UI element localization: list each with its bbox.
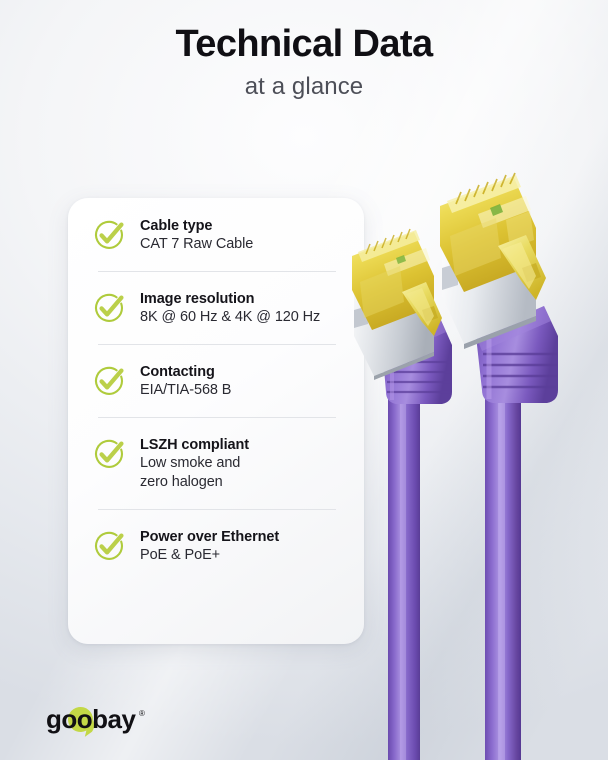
feature-text: Power over Ethernet PoE & PoE+: [140, 527, 279, 565]
feature-subtitle: 8K @ 60 Hz & 4K @ 120 Hz: [140, 308, 320, 327]
feature-subtitle-line2: zero halogen: [140, 473, 249, 492]
feature-row: Cable type CAT 7 Raw Cable: [86, 198, 346, 271]
check-circle-icon: [92, 437, 126, 471]
page-subtitle: at a glance: [0, 72, 608, 102]
rj45-patch-cable-image: [330, 140, 608, 760]
check-circle-icon: [92, 364, 126, 398]
feature-subtitle: EIA/TIA-568 B: [140, 381, 231, 400]
feature-title: Cable type: [140, 217, 253, 235]
feature-row: Contacting EIA/TIA-568 B: [86, 344, 346, 417]
feature-text: LSZH compliant Low smoke and zero haloge…: [140, 435, 249, 492]
row-divider: [98, 509, 336, 510]
feature-list-card: Cable type CAT 7 Raw Cable Image resolut…: [68, 198, 364, 644]
row-divider: [98, 344, 336, 345]
feature-subtitle: CAT 7 Raw Cable: [140, 235, 253, 254]
page-title: Technical Data: [0, 22, 608, 66]
header: Technical Data at a glance: [0, 22, 608, 102]
check-circle-icon: [92, 529, 126, 563]
feature-title: Contacting: [140, 363, 231, 381]
feature-subtitle: Low smoke and: [140, 454, 249, 473]
feature-row: Power over Ethernet PoE & PoE+: [86, 509, 346, 583]
feature-title: Power over Ethernet: [140, 528, 279, 546]
feature-text: Image resolution 8K @ 60 Hz & 4K @ 120 H…: [140, 289, 320, 327]
check-circle-icon: [92, 291, 126, 325]
feature-subtitle: PoE & PoE+: [140, 546, 279, 565]
row-divider: [98, 417, 336, 418]
infographic-page: Technical Data at a glance Cable type CA…: [0, 0, 608, 760]
feature-row: Image resolution 8K @ 60 Hz & 4K @ 120 H…: [86, 271, 346, 344]
goobay-logo: goobay ®: [46, 703, 166, 737]
row-divider: [98, 271, 336, 272]
feature-text: Contacting EIA/TIA-568 B: [140, 362, 231, 400]
feature-title: LSZH compliant: [140, 436, 249, 454]
cable-left: [352, 229, 452, 760]
logo-trademark: ®: [139, 709, 145, 718]
feature-title: Image resolution: [140, 290, 320, 308]
feature-row: LSZH compliant Low smoke and zero haloge…: [86, 417, 346, 509]
logo-wordmark: goobay: [46, 704, 136, 734]
check-circle-icon: [92, 218, 126, 252]
cable-right: [440, 173, 558, 760]
feature-text: Cable type CAT 7 Raw Cable: [140, 216, 253, 254]
